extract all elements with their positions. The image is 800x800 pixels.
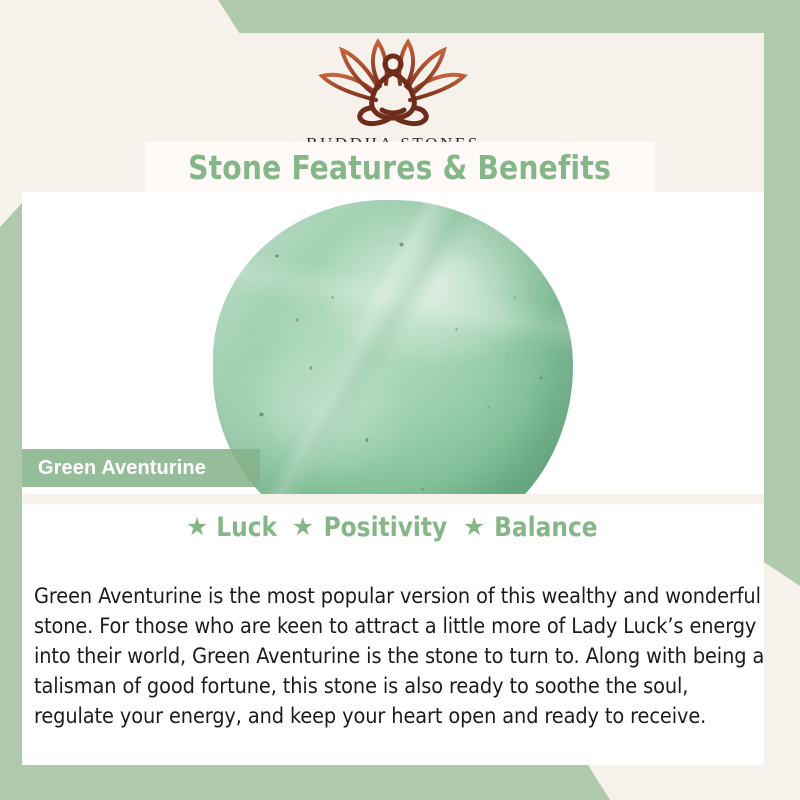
benefit-label-positivity: Positivity [324,512,448,543]
benefit-label-balance: Balance [494,512,597,543]
page-title: Stone Features & Benefits [189,148,612,187]
stone-description: Green Aventurine is the most popular ver… [34,582,774,732]
infographic-page: BUDDHA STONES Stone Features & Benefits … [0,0,800,800]
decorative-right-bar [764,0,800,586]
decorative-top-right-band [0,0,800,34]
green-aventurine-stone-image [213,200,573,494]
stone-name-label: Green Aventurine [22,457,206,480]
benefit-item-luck: ★ Luck [186,512,279,543]
benefit-item-positivity: ★ Positivity [292,512,450,543]
section-title-banner: Stone Features & Benefits [145,142,655,192]
photo-bottom-strip [22,494,764,504]
lotus-meditation-figure-icon [303,36,483,132]
benefits-row: ★ Luck ★ Positivity ★ Balance [22,512,764,543]
benefit-label-luck: Luck [217,512,278,543]
star-icon: ★ [186,515,208,540]
decorative-bottom-left-band [0,765,800,800]
stone-name-bar: Green Aventurine [22,449,260,487]
star-icon: ★ [292,515,314,540]
star-icon: ★ [463,515,485,540]
benefit-item-balance: ★ Balance [463,512,600,543]
